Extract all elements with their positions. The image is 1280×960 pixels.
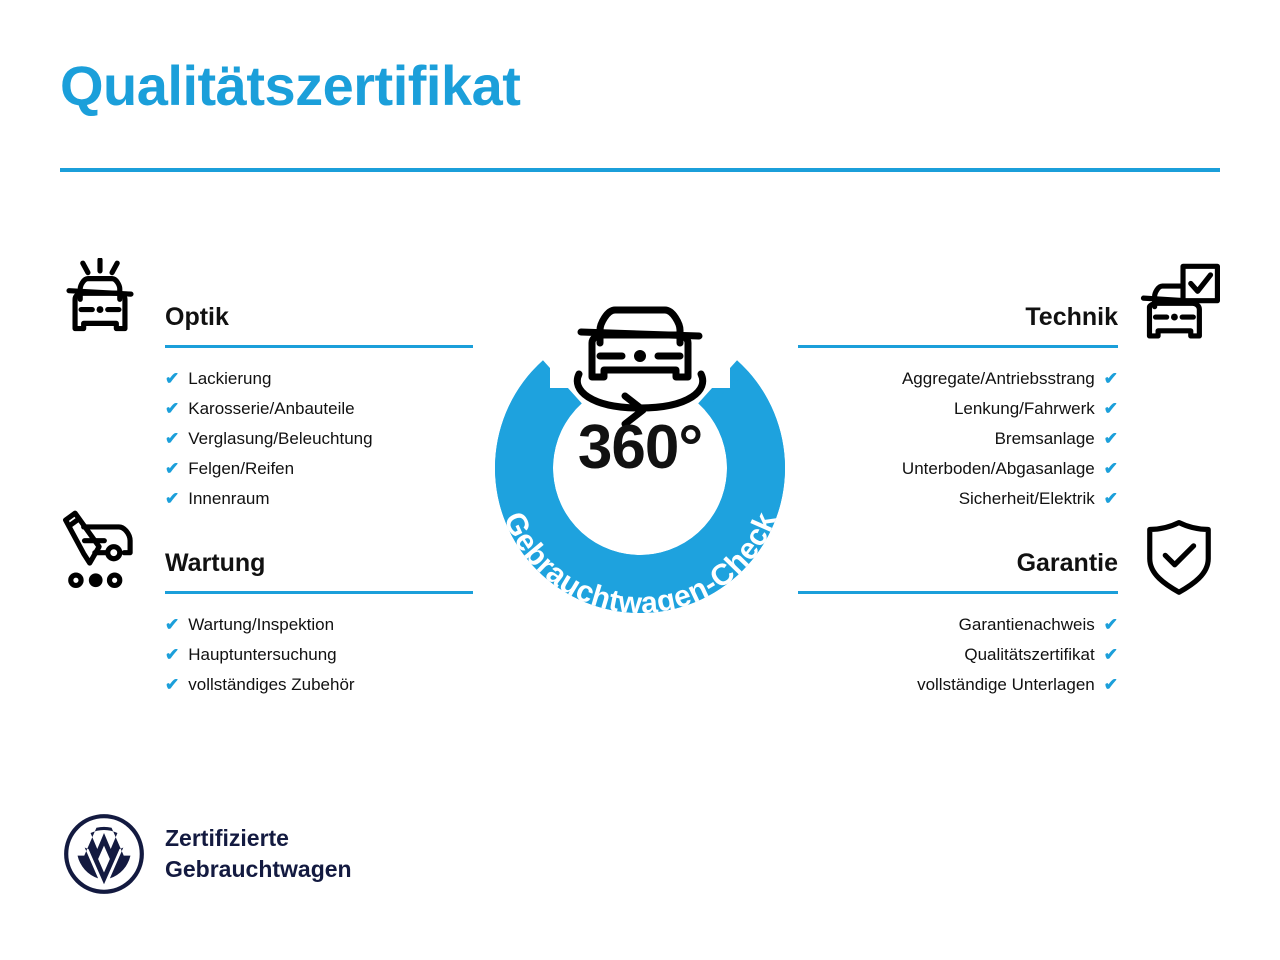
section-optik-title: Optik <box>165 300 473 334</box>
section-wartung-header: Wartung <box>165 546 473 594</box>
check-icon: ✔ <box>1104 640 1118 670</box>
list-item: ✔Karosserie/Anbauteile <box>165 394 473 424</box>
check-icon: ✔ <box>1104 394 1118 424</box>
check-icon: ✔ <box>165 394 179 424</box>
check-icon: ✔ <box>165 640 179 670</box>
list-item-label: Garantienachweis <box>959 610 1095 640</box>
check-icon: ✔ <box>1104 364 1118 394</box>
shield-check-icon <box>1136 514 1222 600</box>
list-item-label: Aggregate/Antriebsstrang <box>902 364 1095 394</box>
check-icon: ✔ <box>165 484 179 514</box>
section-technik-header: Technik <box>798 300 1118 348</box>
page-title: Qualitätszertifikat <box>60 55 520 117</box>
list-item-label: Sicherheit/Elektrik <box>959 484 1095 514</box>
list-item-label: Hauptuntersuchung <box>188 640 336 670</box>
section-garantie: Garantie Garantienachweis✔ Qualitätszert… <box>798 546 1118 700</box>
check-icon: ✔ <box>165 424 179 454</box>
section-optik-header: Optik <box>165 300 473 348</box>
section-garantie-list: Garantienachweis✔ Qualitätszertifikat✔ v… <box>798 610 1118 700</box>
list-item: ✔Felgen/Reifen <box>165 454 473 484</box>
section-technik-title: Technik <box>798 300 1118 334</box>
check-icon: ✔ <box>1104 610 1118 640</box>
section-optik: Optik ✔Lackierung ✔Karosserie/Anbauteile… <box>165 300 473 514</box>
section-optik-divider <box>165 345 473 348</box>
list-item: ✔vollständiges Zubehör <box>165 670 473 700</box>
list-item-label: vollständige Unterlagen <box>917 670 1095 700</box>
list-item: Garantienachweis✔ <box>798 610 1118 640</box>
quality-certificate-page: Qualitätszertifikat <box>0 0 1280 960</box>
footer-lockup-text: Zertifizierte Gebrauchtwagen <box>165 823 352 885</box>
list-item-label: Lenkung/Fahrwerk <box>954 394 1095 424</box>
list-item: Unterboden/Abgasanlage✔ <box>798 454 1118 484</box>
check-icon: ✔ <box>165 610 179 640</box>
list-item-label: Karosserie/Anbauteile <box>188 394 354 424</box>
list-item: Sicherheit/Elektrik✔ <box>798 484 1118 514</box>
section-garantie-title: Garantie <box>798 546 1118 580</box>
list-item-label: vollständiges Zubehör <box>188 670 354 700</box>
list-item-label: Qualitätszertifikat <box>964 640 1094 670</box>
check-icon: ✔ <box>165 364 179 394</box>
list-item-label: Felgen/Reifen <box>188 454 294 484</box>
list-item: ✔Innenraum <box>165 484 473 514</box>
check-icon: ✔ <box>165 670 179 700</box>
list-item: ✔Lackierung <box>165 364 473 394</box>
check-icon: ✔ <box>1104 670 1118 700</box>
section-garantie-divider <box>798 591 1118 594</box>
list-item: ✔Verglasung/Beleuchtung <box>165 424 473 454</box>
section-wartung-title: Wartung <box>165 546 473 580</box>
section-optik-list: ✔Lackierung ✔Karosserie/Anbauteile ✔Verg… <box>165 364 473 514</box>
section-technik: Technik Aggregate/Antriebsstrang✔ Lenkun… <box>798 300 1118 514</box>
section-wartung-list: ✔Wartung/Inspektion ✔Hauptuntersuchung ✔… <box>165 610 473 700</box>
car-shine-icon <box>57 258 143 344</box>
list-item-label: Wartung/Inspektion <box>188 610 334 640</box>
header-divider <box>60 168 1220 172</box>
list-item-label: Unterboden/Abgasanlage <box>902 454 1095 484</box>
list-item: vollständige Unterlagen✔ <box>798 670 1118 700</box>
section-technik-list: Aggregate/Antriebsstrang✔ Lenkung/Fahrwe… <box>798 364 1118 514</box>
check-icon: ✔ <box>1104 484 1118 514</box>
footer-line-1: Zertifizierte <box>165 823 352 854</box>
list-item-label: Innenraum <box>188 484 269 514</box>
list-item-label: Bremsanlage <box>995 424 1095 454</box>
list-item: Qualitätszertifikat✔ <box>798 640 1118 670</box>
check-icon: ✔ <box>1104 424 1118 454</box>
section-technik-divider <box>798 345 1118 348</box>
car-checkbox-icon <box>1134 262 1220 348</box>
list-item: Bremsanlage✔ <box>798 424 1118 454</box>
list-item-label: Verglasung/Beleuchtung <box>188 424 372 454</box>
360-check-badge: Gebrauchtwagen-Check 360° <box>455 248 825 638</box>
list-item: ✔Wartung/Inspektion <box>165 610 473 640</box>
check-icon: ✔ <box>1104 454 1118 484</box>
list-item: Lenkung/Fahrwerk✔ <box>798 394 1118 424</box>
section-wartung-divider <box>165 591 473 594</box>
section-garantie-header: Garantie <box>798 546 1118 594</box>
vw-logo <box>62 812 146 896</box>
footer-line-2: Gebrauchtwagen <box>165 854 352 885</box>
section-wartung: Wartung ✔Wartung/Inspektion ✔Hauptunters… <box>165 546 473 700</box>
list-item: Aggregate/Antriebsstrang✔ <box>798 364 1118 394</box>
check-icon: ✔ <box>165 454 179 484</box>
list-item-label: Lackierung <box>188 364 271 394</box>
list-item: ✔Hauptuntersuchung <box>165 640 473 670</box>
pencil-car-icon <box>57 508 143 594</box>
